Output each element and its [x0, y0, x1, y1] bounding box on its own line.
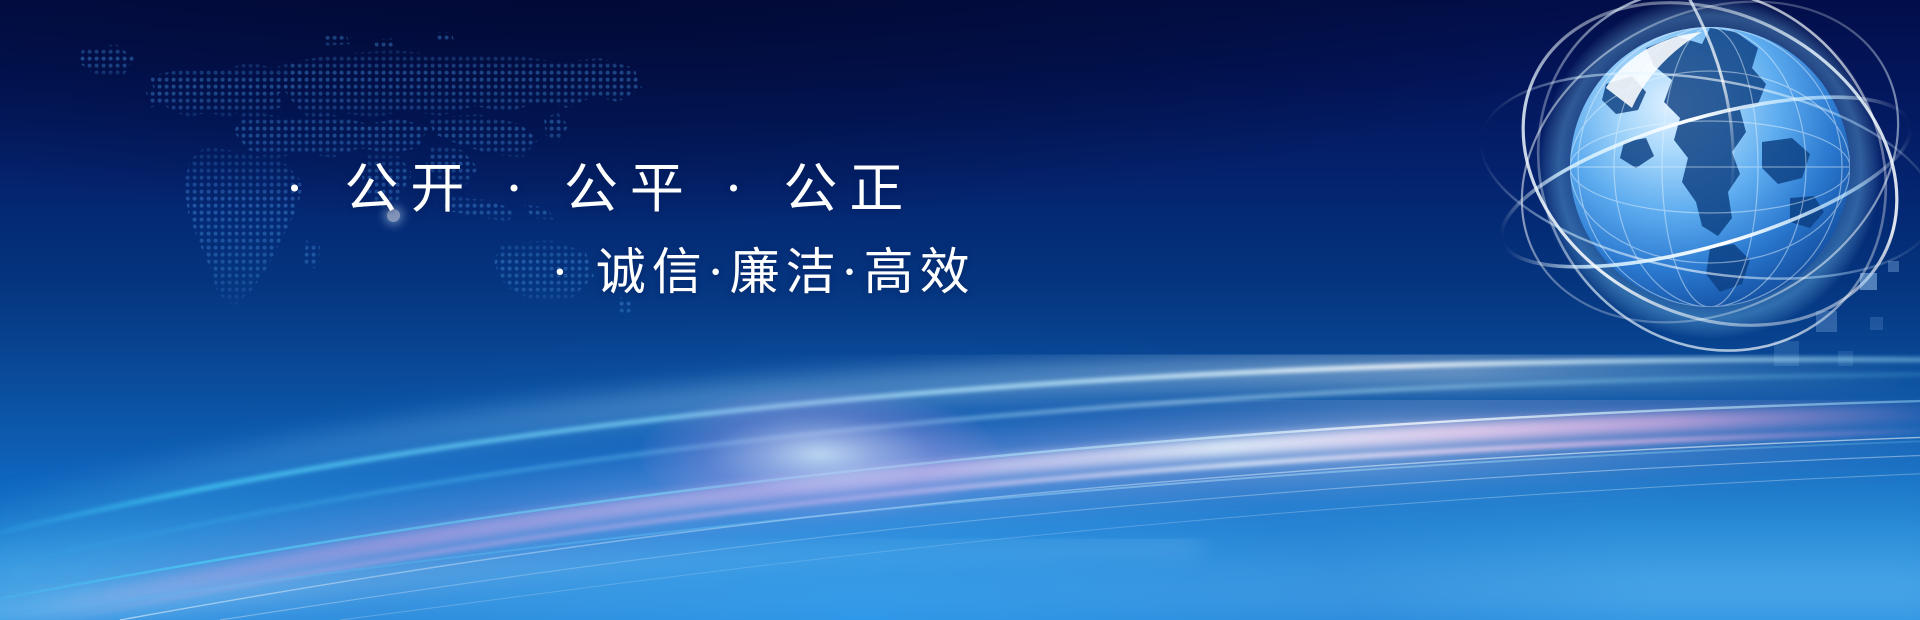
light-wave-graphic [0, 290, 1920, 620]
light-hotspot [640, 390, 1000, 520]
globe-graphic [1410, 0, 1890, 412]
map-location-marker-icon [387, 209, 400, 222]
banner-root: · 公开 · 公平 · 公正 · 诚信·廉洁·高效 [0, 0, 1920, 620]
headline-block: · 公开 · 公平 · 公正 · 诚信·廉洁·高效 [0, 0, 1150, 330]
top-shade-overlay [0, 0, 1920, 620]
pixel-squares-decoration [1720, 255, 1920, 385]
world-map-graphic [38, 14, 678, 344]
slogan-line-1: · 公开 · 公平 · 公正 [286, 144, 915, 223]
vignette-overlay [0, 0, 1920, 620]
slogan-line-2: · 诚信·廉洁·高效 [552, 232, 976, 304]
